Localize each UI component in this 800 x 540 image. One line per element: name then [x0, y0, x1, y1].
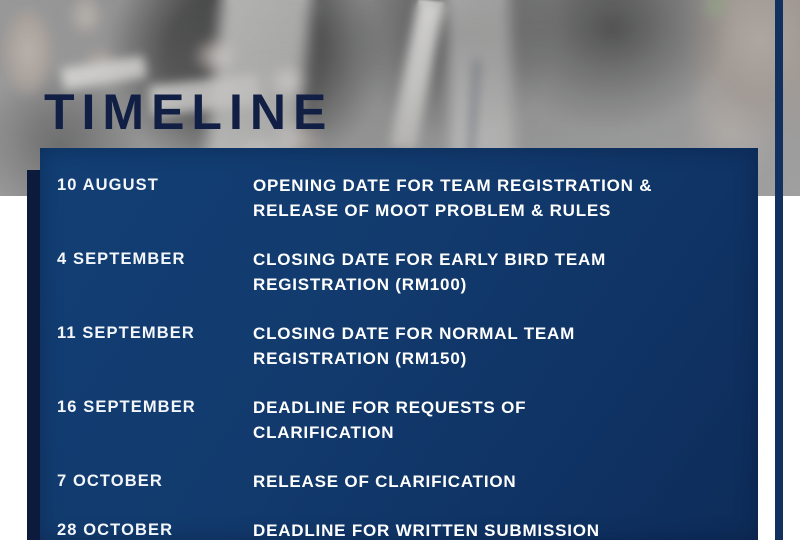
timeline-row-description-line1: RELEASE OF CLARIFICATION [253, 472, 517, 491]
timeline-row-date: 7 OCTOBER [57, 469, 253, 493]
timeline-rows: 10 AUGUST OPENING DATE FOR TEAM REGISTRA… [57, 173, 758, 540]
timeline-row-description-line2: RELEASE OF MOOT PROBLEM & RULES [253, 198, 723, 223]
timeline-row-description: OPENING DATE FOR TEAM REGISTRATION & REL… [253, 173, 723, 223]
page-title: TIMELINE [44, 84, 333, 140]
timeline-row-description-line1: DEADLINE FOR REQUESTS OF [253, 398, 526, 417]
timeline-row: 11 SEPTEMBER CLOSING DATE FOR NORMAL TEA… [57, 321, 758, 371]
timeline-panel: 10 AUGUST OPENING DATE FOR TEAM REGISTRA… [40, 148, 758, 540]
timeline-row-description-line1: OPENING DATE FOR TEAM REGISTRATION & [253, 176, 652, 195]
timeline-row-description-line1: CLOSING DATE FOR NORMAL TEAM [253, 324, 575, 343]
timeline-row-description-line2: CLARIFICATION [253, 420, 723, 445]
timeline-row-date: 11 SEPTEMBER [57, 321, 253, 345]
timeline-row-description: CLOSING DATE FOR EARLY BIRD TEAM REGISTR… [253, 247, 723, 297]
timeline-row-description: DEADLINE FOR REQUESTS OF CLARIFICATION [253, 395, 723, 445]
right-vertical-rule [775, 0, 783, 540]
timeline-row-description-line1: CLOSING DATE FOR EARLY BIRD TEAM [253, 250, 606, 269]
timeline-row-description: RELEASE OF CLARIFICATION [253, 469, 723, 494]
timeline-row: 7 OCTOBER RELEASE OF CLARIFICATION [57, 469, 758, 494]
timeline-row-description: CLOSING DATE FOR NORMAL TEAM REGISTRATIO… [253, 321, 723, 371]
timeline-row-date: 28 OCTOBER [57, 518, 253, 540]
timeline-row-description-line2: REGISTRATION (RM150) [253, 346, 723, 371]
timeline-row-description: DEADLINE FOR WRITTEN SUBMISSION [253, 518, 723, 540]
timeline-row: 16 SEPTEMBER DEADLINE FOR REQUESTS OF CL… [57, 395, 758, 445]
timeline-row-date: 4 SEPTEMBER [57, 247, 253, 271]
timeline-poster: TIMELINE 10 AUGUST OPENING DATE FOR TEAM… [0, 0, 800, 540]
timeline-row: 10 AUGUST OPENING DATE FOR TEAM REGISTRA… [57, 173, 758, 223]
timeline-row-description-line2: REGISTRATION (RM100) [253, 272, 723, 297]
timeline-row-date: 16 SEPTEMBER [57, 395, 253, 419]
timeline-row-date: 10 AUGUST [57, 173, 253, 197]
timeline-row: 4 SEPTEMBER CLOSING DATE FOR EARLY BIRD … [57, 247, 758, 297]
timeline-row: 28 OCTOBER DEADLINE FOR WRITTEN SUBMISSI… [57, 518, 758, 540]
timeline-row-description-line1: DEADLINE FOR WRITTEN SUBMISSION [253, 521, 600, 540]
